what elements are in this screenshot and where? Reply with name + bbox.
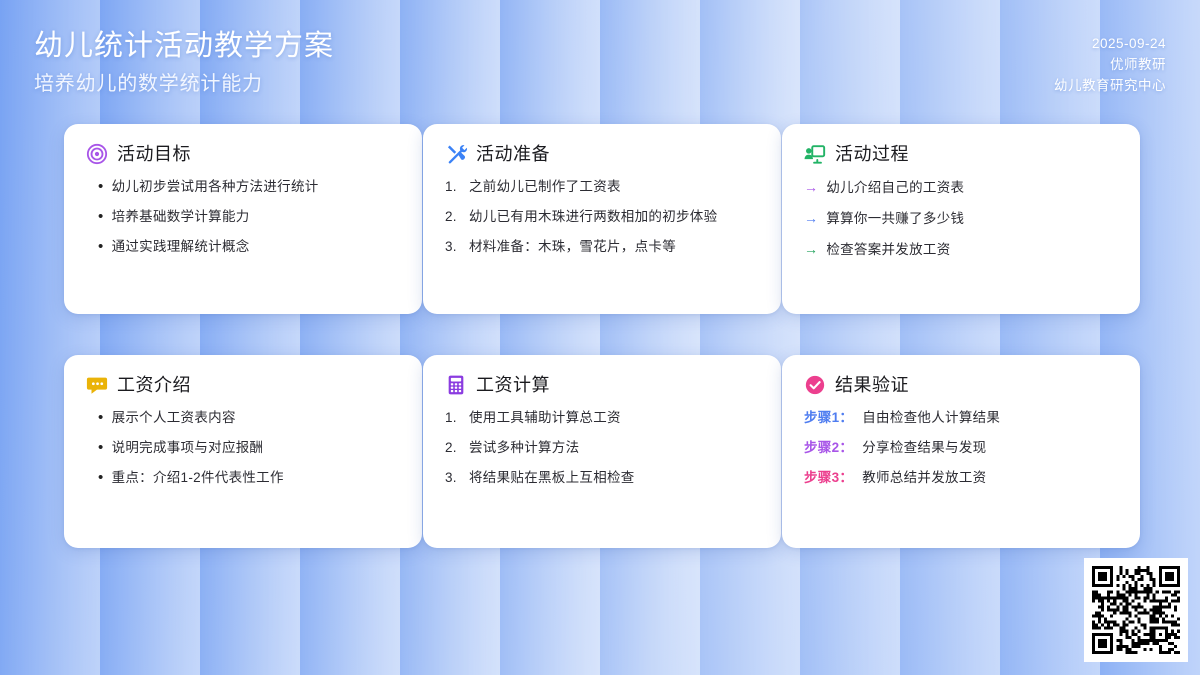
card-4[interactable]: 工资介绍•展示个人工资表内容•说明完成事项与对应报酬•重点：介绍1-2件代表性工…: [64, 355, 422, 548]
calculator-icon: [445, 374, 467, 396]
card-header: 结果验证: [804, 374, 1118, 396]
list-number: 1.: [445, 409, 461, 427]
step-label: 步骤1：: [804, 409, 853, 427]
title-block: 幼儿统计活动教学方案 培养幼儿的数学统计能力: [34, 26, 334, 100]
list-item: •幼儿初步尝试用各种方法进行统计: [86, 178, 400, 196]
card-title: 活动目标: [117, 143, 191, 165]
list-item: •通过实践理解统计概念: [86, 238, 400, 256]
list-item-text: 将结果贴在黑板上互相检查: [469, 469, 759, 487]
target-icon: [86, 143, 108, 165]
list-item-text: 说明完成事项与对应报酬: [112, 439, 400, 457]
card-title: 结果验证: [835, 374, 909, 396]
meta-org: 优师教研: [1054, 54, 1166, 75]
card-3[interactable]: 活动过程→幼儿介绍自己的工资表→算算你一共赚了多少钱→检查答案并发放工资: [782, 124, 1140, 314]
qr-code[interactable]: [1084, 558, 1188, 662]
card-list: •幼儿初步尝试用各种方法进行统计•培养基础数学计算能力•通过实践理解统计概念: [86, 178, 400, 256]
list-item-text: 使用工具辅助计算总工资: [469, 409, 759, 427]
list-item-text: 算算你一共赚了多少钱: [826, 210, 1118, 228]
list-item-text: 重点：介绍1-2件代表性工作: [112, 469, 400, 487]
list-item: •培养基础数学计算能力: [86, 208, 400, 226]
card-list: 1.之前幼儿已制作了工资表2.幼儿已有用木珠进行两数相加的初步体验3.材料准备：…: [445, 178, 759, 256]
list-item: 2.尝试多种计算方法: [445, 439, 759, 457]
list-item-text: 分享检查结果与发现: [862, 439, 1118, 457]
list-number: 1.: [445, 178, 461, 196]
card-list: 1.使用工具辅助计算总工资2.尝试多种计算方法3.将结果贴在黑板上互相检查: [445, 409, 759, 487]
list-item-text: 幼儿已有用木珠进行两数相加的初步体验: [469, 208, 759, 226]
card-6[interactable]: 结果验证步骤1：自由检查他人计算结果步骤2：分享检查结果与发现步骤3：教师总结并…: [782, 355, 1140, 548]
arrow-icon: →: [804, 178, 818, 196]
meta-date: 2025-09-24: [1054, 33, 1166, 54]
speech-bubble-icon: [86, 374, 108, 396]
bullet-icon: •: [98, 409, 104, 427]
list-item-text: 幼儿介绍自己的工资表: [826, 179, 1118, 197]
list-item: 步骤1：自由检查他人计算结果: [804, 409, 1118, 427]
card-header: 工资介绍: [86, 374, 400, 396]
bullet-icon: •: [98, 178, 104, 196]
list-item-text: 幼儿初步尝试用各种方法进行统计: [112, 178, 400, 196]
list-item-text: 材料准备：木珠，雪花片，点卡等: [469, 238, 759, 256]
list-item-text: 尝试多种计算方法: [469, 439, 759, 457]
list-number: 2.: [445, 439, 461, 457]
list-item: 2.幼儿已有用木珠进行两数相加的初步体验: [445, 208, 759, 226]
list-number: 3.: [445, 469, 461, 487]
card-header: 活动目标: [86, 143, 400, 165]
list-item-text: 检查答案并发放工资: [826, 241, 1118, 259]
list-item: •说明完成事项与对应报酬: [86, 439, 400, 457]
list-item: →幼儿介绍自己的工资表: [804, 178, 1118, 197]
card-header: 活动过程: [804, 143, 1118, 165]
page-subtitle: 培养幼儿的数学统计能力: [34, 68, 334, 100]
presentation-icon: [804, 143, 826, 165]
bullet-icon: •: [98, 439, 104, 457]
list-item: 3.将结果贴在黑板上互相检查: [445, 469, 759, 487]
list-item-text: 通过实践理解统计概念: [112, 238, 400, 256]
bullet-icon: •: [98, 469, 104, 487]
list-item: 1.使用工具辅助计算总工资: [445, 409, 759, 427]
page-title: 幼儿统计活动教学方案: [34, 26, 334, 66]
list-item: 3.材料准备：木珠，雪花片，点卡等: [445, 238, 759, 256]
check-circle-icon: [804, 374, 826, 396]
card-list: →幼儿介绍自己的工资表→算算你一共赚了多少钱→检查答案并发放工资: [804, 178, 1118, 259]
card-5[interactable]: 工资计算1.使用工具辅助计算总工资2.尝试多种计算方法3.将结果贴在黑板上互相检…: [423, 355, 781, 548]
arrow-icon: →: [804, 209, 818, 227]
card-title: 活动准备: [476, 143, 550, 165]
card-1[interactable]: 活动目标•幼儿初步尝试用各种方法进行统计•培养基础数学计算能力•通过实践理解统计…: [64, 124, 422, 314]
card-header: 工资计算: [445, 374, 759, 396]
card-list: 步骤1：自由检查他人计算结果步骤2：分享检查结果与发现步骤3：教师总结并发放工资: [804, 409, 1118, 487]
tools-icon: [445, 143, 467, 165]
list-item-text: 教师总结并发放工资: [862, 469, 1118, 487]
meta-department: 幼儿教育研究中心: [1054, 75, 1166, 96]
card-title: 活动过程: [835, 143, 909, 165]
list-number: 2.: [445, 208, 461, 226]
card-grid: 活动目标•幼儿初步尝试用各种方法进行统计•培养基础数学计算能力•通过实践理解统计…: [64, 124, 1140, 548]
list-item-text: 之前幼儿已制作了工资表: [469, 178, 759, 196]
list-item-text: 培养基础数学计算能力: [112, 208, 400, 226]
card-title: 工资介绍: [117, 374, 191, 396]
step-label: 步骤3：: [804, 469, 853, 487]
list-item: •重点：介绍1-2件代表性工作: [86, 469, 400, 487]
arrow-icon: →: [804, 240, 818, 258]
slide-header: 幼儿统计活动教学方案 培养幼儿的数学统计能力 2025-09-24 优师教研 幼…: [0, 0, 1200, 120]
bullet-icon: •: [98, 238, 104, 256]
card-title: 工资计算: [476, 374, 550, 396]
card-header: 活动准备: [445, 143, 759, 165]
card-list: •展示个人工资表内容•说明完成事项与对应报酬•重点：介绍1-2件代表性工作: [86, 409, 400, 487]
list-item: →算算你一共赚了多少钱: [804, 209, 1118, 228]
list-item: 1.之前幼儿已制作了工资表: [445, 178, 759, 196]
list-item: 步骤2：分享检查结果与发现: [804, 439, 1118, 457]
step-label: 步骤2：: [804, 439, 853, 457]
list-item: •展示个人工资表内容: [86, 409, 400, 427]
list-item: →检查答案并发放工资: [804, 240, 1118, 259]
card-2[interactable]: 活动准备1.之前幼儿已制作了工资表2.幼儿已有用木珠进行两数相加的初步体验3.材…: [423, 124, 781, 314]
list-item: 步骤3：教师总结并发放工资: [804, 469, 1118, 487]
list-item-text: 自由检查他人计算结果: [862, 409, 1118, 427]
qr-code-image: [1092, 566, 1180, 654]
list-number: 3.: [445, 238, 461, 256]
list-item-text: 展示个人工资表内容: [112, 409, 400, 427]
bullet-icon: •: [98, 208, 104, 226]
header-meta: 2025-09-24 优师教研 幼儿教育研究中心: [1054, 33, 1166, 96]
